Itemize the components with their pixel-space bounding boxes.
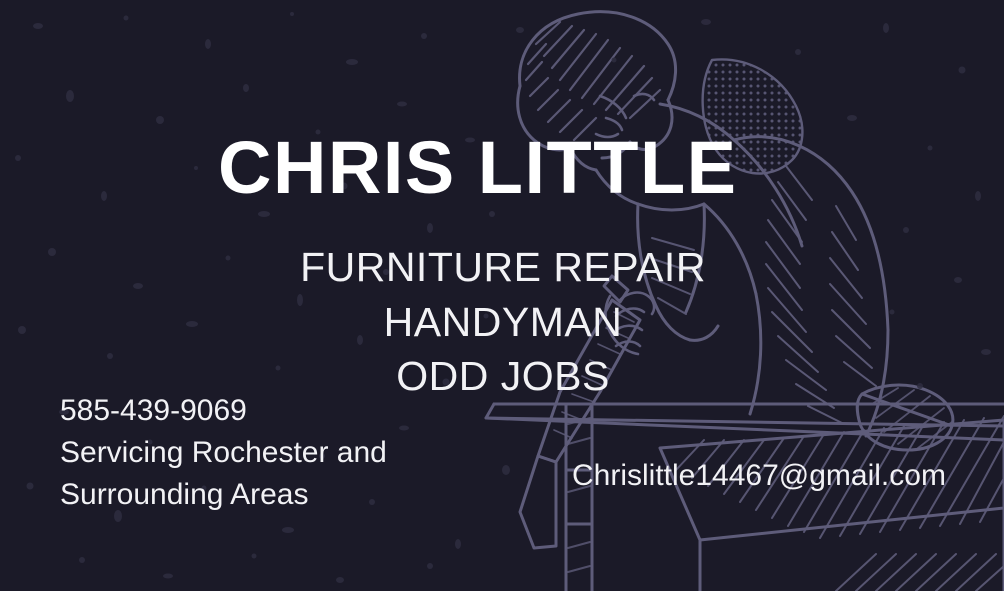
- card-text-layer: CHRIS LITTLE FURNITURE REPAIR HANDYMAN O…: [0, 0, 1004, 591]
- business-card: CHRIS LITTLE FURNITURE REPAIR HANDYMAN O…: [0, 0, 1004, 591]
- email-address[interactable]: Chrislittle14467@gmail.com: [572, 455, 946, 497]
- service-area-line-2: Surrounding Areas: [60, 474, 387, 516]
- card-name-title: CHRIS LITTLE: [218, 131, 738, 205]
- service-line-furniture-repair: FURNITURE REPAIR: [2, 240, 1004, 295]
- services-list: FURNITURE REPAIR HANDYMAN ODD JOBS: [0, 240, 1004, 404]
- phone-number[interactable]: 585-439-9069: [60, 390, 387, 432]
- contact-block-left: 585-439-9069 Servicing Rochester and Sur…: [60, 390, 387, 516]
- service-area-line-1: Servicing Rochester and: [60, 432, 387, 474]
- service-line-handyman: HANDYMAN: [2, 295, 1004, 350]
